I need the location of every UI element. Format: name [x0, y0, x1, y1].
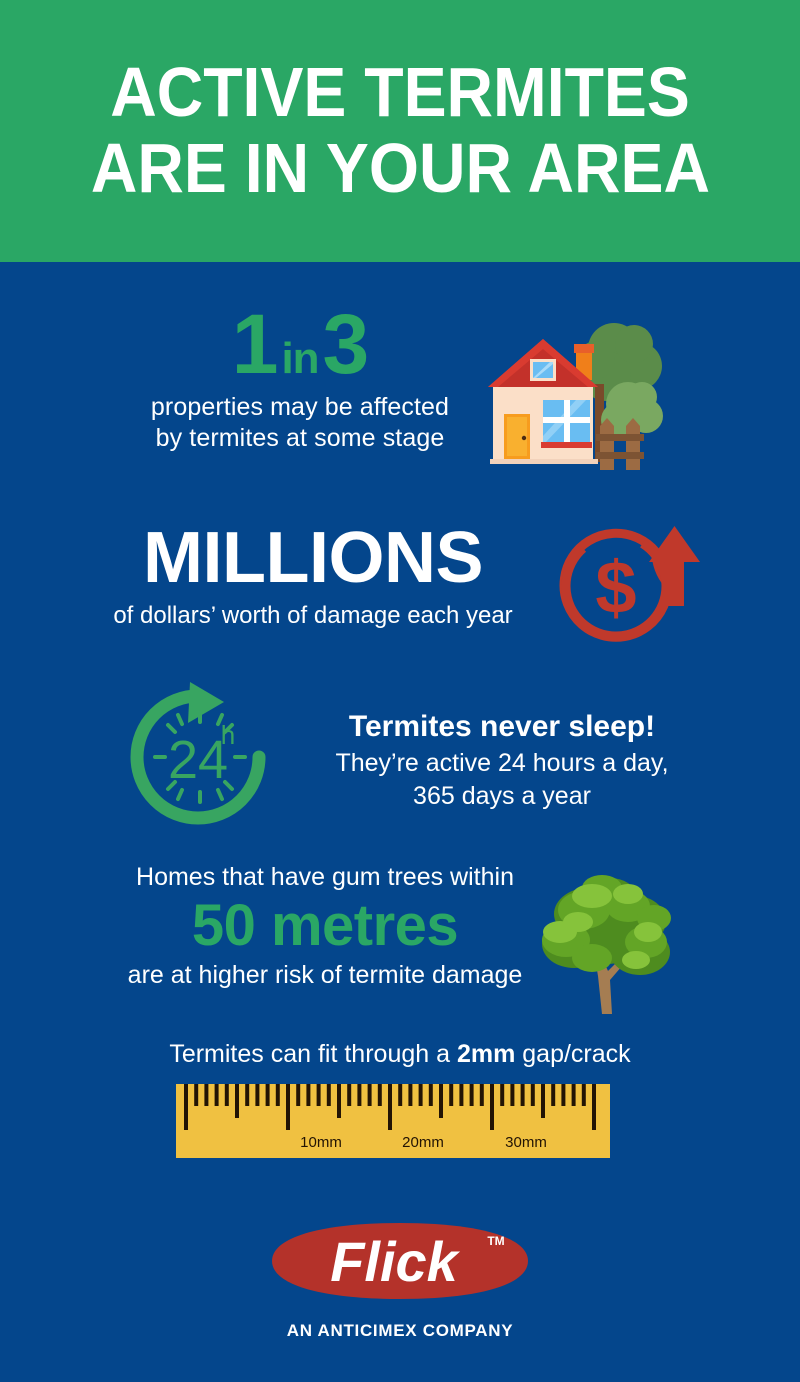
gap-crack-caption-after: gap/crack [515, 1040, 630, 1068]
gum-trees-top-line: Homes that have gum trees within [90, 862, 560, 892]
24h-clock-arrow-icon: 24 h [128, 682, 283, 832]
svg-text:$: $ [595, 546, 636, 629]
infographic-page: ACTIVE TERMITES ARE IN YOUR AREA 1in3 pr… [0, 0, 800, 1382]
never-sleep-text-block: Termites never sleep! They’re active 24 … [292, 710, 712, 811]
company-tagline: AN ANTICIMEX COMPANY [287, 1321, 514, 1341]
never-sleep-subtext-line-1: They’re active 24 hours a day, [292, 748, 712, 778]
gum-trees-bottom-line: are at higher risk of termite damage [90, 960, 560, 990]
header-banner: ACTIVE TERMITES ARE IN YOUR AREA [0, 0, 800, 262]
header-title-line-1: ACTIVE TERMITES [110, 55, 690, 131]
ratio-number-first: 1 [232, 297, 278, 391]
body-area: 1in3 properties may be affected by termi… [0, 262, 800, 1382]
header-title-line-2: ARE IN YOUR AREA [90, 131, 709, 207]
gap-crack-caption-value: 2mm [457, 1040, 515, 1068]
millions-headline: MILLIONS [78, 522, 548, 594]
clock-number-label: 24 [168, 730, 228, 790]
one-in-three-subtext: properties may be affected by termites a… [120, 392, 480, 453]
clock-unit-label: h [221, 720, 235, 750]
flick-logo[interactable]: Flick TM [260, 1215, 540, 1307]
ratio-number-second: 3 [323, 297, 369, 391]
stat-section-never-sleep: 24 h Termites never sleep! They’re activ… [0, 682, 800, 832]
millions-text-block: MILLIONS of dollars’ worth of damage eac… [78, 522, 548, 630]
stat-section-gum-trees: Homes that have gum trees within 50 metr… [0, 862, 800, 1022]
one-in-three-headline: 1in3 [120, 302, 480, 386]
gum-trees-text-block: Homes that have gum trees within 50 metr… [90, 862, 560, 990]
never-sleep-headline: Termites never sleep! [292, 710, 712, 745]
dollar-circular-arrow-icon: $ [548, 518, 708, 648]
logo-wordmark: Flick [330, 1230, 460, 1293]
ruler-label-20mm: 20mm [402, 1134, 444, 1151]
millions-subtext: of dollars’ worth of damage each year [78, 602, 548, 630]
stat-section-gap-crack: Termites can fit through a 2mm gap/crack… [0, 1040, 800, 1175]
one-in-three-subtext-line-1: properties may be affected [120, 392, 480, 423]
footer-branding: Flick TM AN ANTICIMEX COMPANY [0, 1215, 800, 1382]
gum-tree-illustration [532, 866, 688, 1016]
ruler-label-10mm: 10mm [300, 1134, 342, 1151]
stat-section-millions: MILLIONS of dollars’ worth of damage eac… [0, 510, 800, 660]
one-in-three-subtext-line-2: by termites at some stage [120, 423, 480, 454]
logo-trademark: TM [487, 1234, 504, 1248]
ratio-connector: in [277, 334, 322, 383]
ruler-label-30mm: 30mm [505, 1134, 547, 1151]
gap-crack-caption-before: Termites can fit through a [169, 1040, 457, 1068]
gap-crack-caption: Termites can fit through a 2mm gap/crack [0, 1040, 800, 1069]
ruler-illustration: 10mm 20mm 30mm [176, 1084, 610, 1158]
one-in-three-text-block: 1in3 properties may be affected by termi… [120, 302, 480, 453]
house-with-trees-illustration [488, 304, 678, 484]
never-sleep-subtext-line-2: 365 days a year [292, 781, 712, 811]
stat-section-one-in-three: 1in3 properties may be affected by termi… [0, 302, 800, 502]
gum-trees-distance: 50 metres [90, 892, 560, 960]
